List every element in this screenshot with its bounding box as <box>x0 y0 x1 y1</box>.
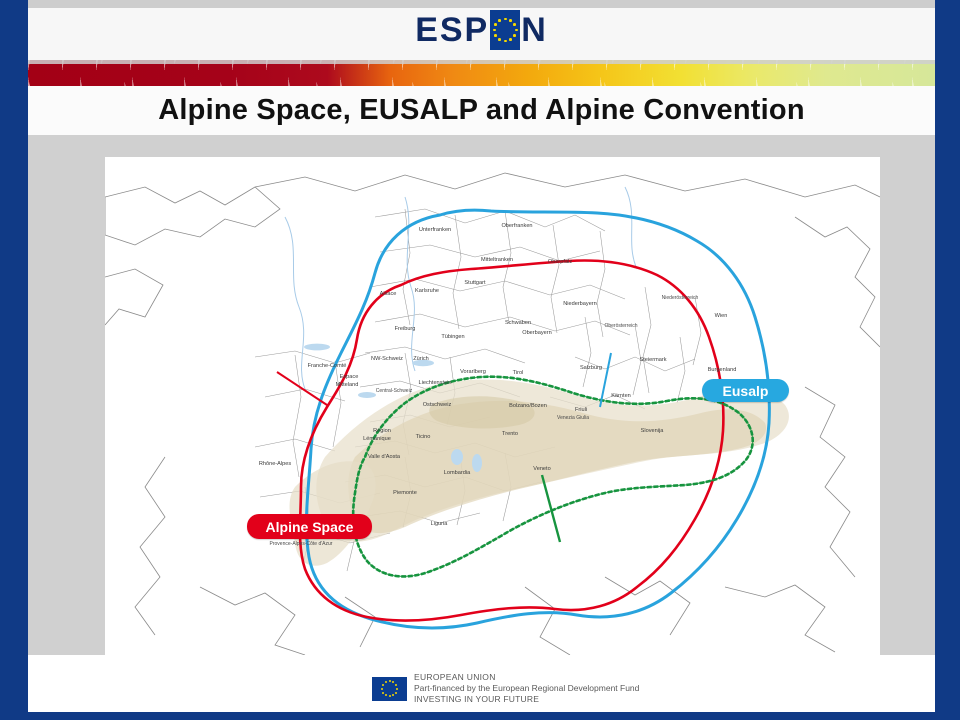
map-region-label: Franche-Comté <box>308 363 347 369</box>
map-region-label: Freiburg <box>395 326 416 332</box>
map-region-label: Niederösterreich <box>662 295 699 301</box>
espon-logo-text-after: N <box>521 13 548 47</box>
map-region-label: Mitteltranken <box>481 257 513 263</box>
map-region-label: Région <box>373 428 391 434</box>
map-region-label: Karlsruhe <box>415 288 439 294</box>
map-region-label: Steiermark <box>639 357 666 363</box>
map-region-label: Piemonte <box>393 490 417 496</box>
callout-alpine-space-label: Alpine Space <box>266 519 354 535</box>
map-region-label: Provence-Alpes-Côte d'Azur <box>270 541 333 547</box>
map-region-label: Tirol <box>513 370 524 376</box>
map-region-label: Oberösterreich <box>604 323 637 329</box>
map-region-label: Lémanique <box>363 436 391 442</box>
map-region-label: Valle d'Aosta <box>368 454 401 460</box>
map-region-label: Slovenija <box>641 428 665 434</box>
map-region-label: Oberpfalz <box>548 259 572 265</box>
map-region-label: Salzburg <box>580 365 602 371</box>
map-region-label: Niederbayern <box>563 301 597 307</box>
eu-flag-icon <box>490 10 520 50</box>
slide: ESP N Alpine Space, EUSALP and Alpine Co… <box>0 0 960 720</box>
map-region-label: Schwaben <box>505 320 531 326</box>
callout-eusalp-label: Eusalp <box>723 383 769 399</box>
page-title: Alpine Space, EUSALP and Alpine Conventi… <box>158 94 805 127</box>
map-region-label: Oberfranken <box>501 223 532 229</box>
map-region-label: Trento <box>502 431 518 437</box>
map-region-label: Espace <box>340 374 359 380</box>
map-region-label: Tübingen <box>441 334 464 340</box>
footer-line-1: EUROPEAN UNION <box>414 672 639 683</box>
map-region-label: Bolzano/Bozen <box>509 403 547 409</box>
espon-logo-text-before: ESP <box>415 13 489 47</box>
map-region-label: Unterfranken <box>419 227 451 233</box>
footer-line-2: Part-financed by the European Regional D… <box>414 683 639 694</box>
map-region-label: Rhône-Alpes <box>259 461 292 467</box>
map-region-label: Vorarlberg <box>460 369 486 375</box>
map-region-label: Liechtenstein <box>419 380 452 386</box>
callout-eusalp[interactable]: Eusalp <box>702 379 789 402</box>
title-bar: Alpine Space, EUSALP and Alpine Conventi… <box>28 86 935 135</box>
map-region-label: Lombardia <box>444 470 471 476</box>
header-bar: ESP N <box>28 0 935 60</box>
callout-alpine-space[interactable]: Alpine Space <box>247 514 372 539</box>
alpine-regions-map[interactable]: UnterfrankenOberfrankenMitteltrankenOber… <box>105 157 880 655</box>
map-region-label: Friuli <box>575 407 587 413</box>
eu-flag-icon-footer <box>372 677 407 701</box>
map-region-label: Liguria <box>431 521 449 527</box>
map-region-label: Stuttgart <box>464 280 486 286</box>
map-region-label: NW-Schweiz <box>371 356 403 362</box>
band-top-edge <box>28 60 935 64</box>
map-region-label: Burgenland <box>708 367 737 373</box>
map-region-label: Mitteland <box>336 382 359 388</box>
map-region-label: Central-Schweiz <box>376 388 413 394</box>
map-region-label: Zürich <box>413 356 429 362</box>
map-region-label: Wien <box>715 313 728 319</box>
frame-left-border <box>0 0 28 720</box>
map-region-label: Venezia Giulia <box>557 415 589 421</box>
map-region-label: Oberbayern <box>522 330 552 336</box>
map-region-label: Ostschweiz <box>423 402 452 408</box>
frame-right-border <box>935 0 960 720</box>
map-region-label: Alsace <box>380 291 397 297</box>
map-region-label: Kärnten <box>611 393 631 399</box>
footer-line-3: INVESTING IN YOUR FUTURE <box>414 694 639 705</box>
map-region-label: Veneto <box>533 466 550 472</box>
frame-bottom-border <box>0 712 960 720</box>
eu-funding-logo: EUROPEAN UNION Part-financed by the Euro… <box>372 672 639 706</box>
map-region-label: Ticino <box>416 434 431 440</box>
espon-logo: ESP N <box>28 0 935 60</box>
